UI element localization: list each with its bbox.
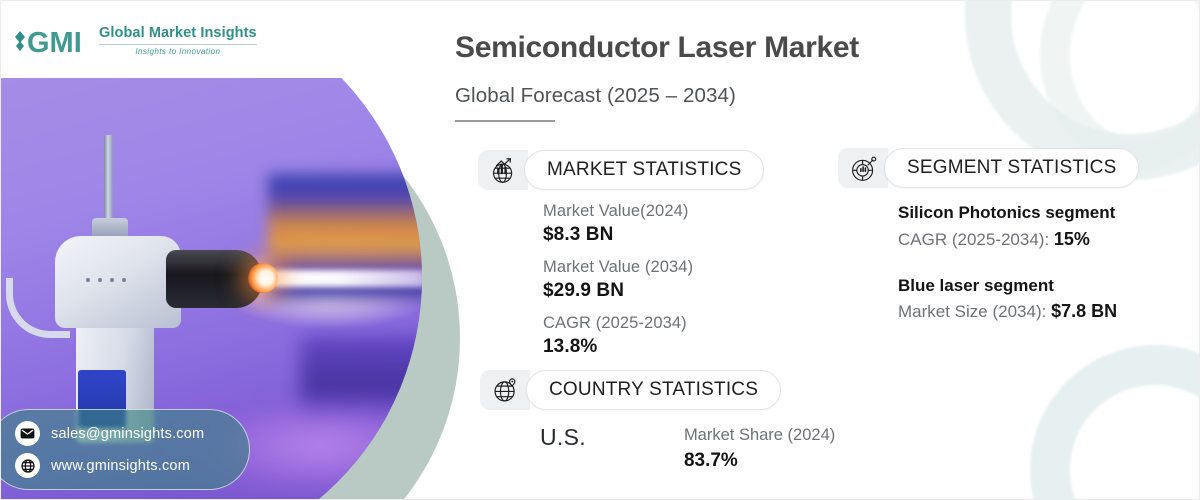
page-title: Semiconductor Laser Market — [455, 31, 859, 65]
globe-icon — [15, 453, 40, 478]
market-value-2034-value: $29.9 BN — [543, 278, 693, 305]
segment-statistics-badge[interactable]: SEGMENT STATISTICS — [838, 148, 1139, 188]
country-statistics-badge[interactable]: COUNTRY STATISTICS — [480, 370, 781, 410]
svg-text:GMI: GMI — [27, 27, 82, 58]
segment-metric-value-2: $7.8 BN — [1051, 301, 1117, 321]
market-cagr-value: 13.8% — [543, 334, 693, 361]
contact-email-row[interactable]: sales@gminsights.com — [15, 421, 233, 446]
market-value-2034-label: Market Value (2034) — [543, 256, 693, 278]
brand-divider — [99, 44, 257, 45]
market-statistics-label: MARKET STATISTICS — [524, 150, 764, 190]
segment-title-1: Silicon Photonics segment — [898, 200, 1117, 226]
page-subtitle: Global Forecast (2025 – 2034) — [455, 84, 736, 108]
brand-tagline: Insights to Innovation — [99, 48, 257, 56]
country-statistics-label: COUNTRY STATISTICS — [526, 370, 781, 410]
contact-badge: sales@gminsights.com www.gminsights.com — [0, 409, 250, 490]
envelope-icon — [15, 421, 40, 446]
brand-name: Global Market Insights — [99, 26, 257, 41]
globe-bar-chart-icon — [478, 150, 528, 190]
segment-metric-value-1: 15% — [1054, 229, 1090, 249]
hero-image: sales@gminsights.com www.gminsights.com — [0, 78, 470, 500]
gmi-logo-icon: GMI — [14, 24, 90, 58]
segment-block-silicon-photonics: Silicon Photonics segment CAGR (2025-203… — [898, 200, 1117, 253]
market-value-2024-label: Market Value(2024) — [543, 200, 693, 222]
donut-chart-arrow-icon — [838, 148, 888, 188]
infographic-root: sales@gminsights.com www.gminsights.com — [0, 0, 1200, 500]
market-value-2024-value: $8.3 BN — [543, 222, 693, 249]
laser-emitter-tip — [248, 263, 278, 293]
country-name: U.S. — [540, 424, 586, 452]
segment-statistics-values: Silicon Photonics segment CAGR (2025-203… — [898, 200, 1117, 345]
segment-metric-1: CAGR (2025-2034): 15% — [898, 226, 1117, 253]
market-cagr-label: CAGR (2025-2034) — [543, 312, 693, 334]
brand-logo-text: Global Market Insights Insights to Innov… — [99, 26, 257, 57]
contact-website: www.gminsights.com — [51, 458, 190, 474]
segment-metric-label-1: CAGR (2025-2034): — [898, 230, 1054, 249]
segment-statistics-label: SEGMENT STATISTICS — [884, 148, 1139, 188]
segment-block-blue-laser: Blue laser segment Market Size (2034): $… — [898, 273, 1117, 326]
title-divider — [455, 120, 555, 122]
decorative-arc-bottom-right — [1030, 345, 1200, 500]
segment-metric-2: Market Size (2034): $7.8 BN — [898, 298, 1117, 325]
country-share-block: Market Share (2024) 83.7% — [684, 424, 835, 475]
contact-website-row[interactable]: www.gminsights.com — [15, 453, 233, 478]
laser-indicator-dots — [86, 276, 140, 283]
contact-email: sales@gminsights.com — [51, 426, 204, 442]
market-statistics-values: Market Value(2024) $8.3 BN Market Value … — [543, 200, 693, 368]
market-statistics-badge[interactable]: MARKET STATISTICS — [478, 150, 764, 190]
brand-logo[interactable]: GMI Global Market Insights Insights to I… — [14, 24, 257, 58]
decorative-arc-top-right-inner — [1040, 0, 1200, 170]
laser-post — [104, 135, 113, 227]
segment-title-2: Blue laser segment — [898, 273, 1117, 299]
country-share-value: 83.7% — [684, 448, 835, 475]
country-share-label: Market Share (2024) — [684, 424, 835, 446]
country-statistics-values: U.S. Market Share (2024) 83.7% — [540, 424, 835, 475]
segment-metric-label-2: Market Size (2034): — [898, 302, 1051, 321]
globe-pin-icon — [480, 370, 530, 410]
